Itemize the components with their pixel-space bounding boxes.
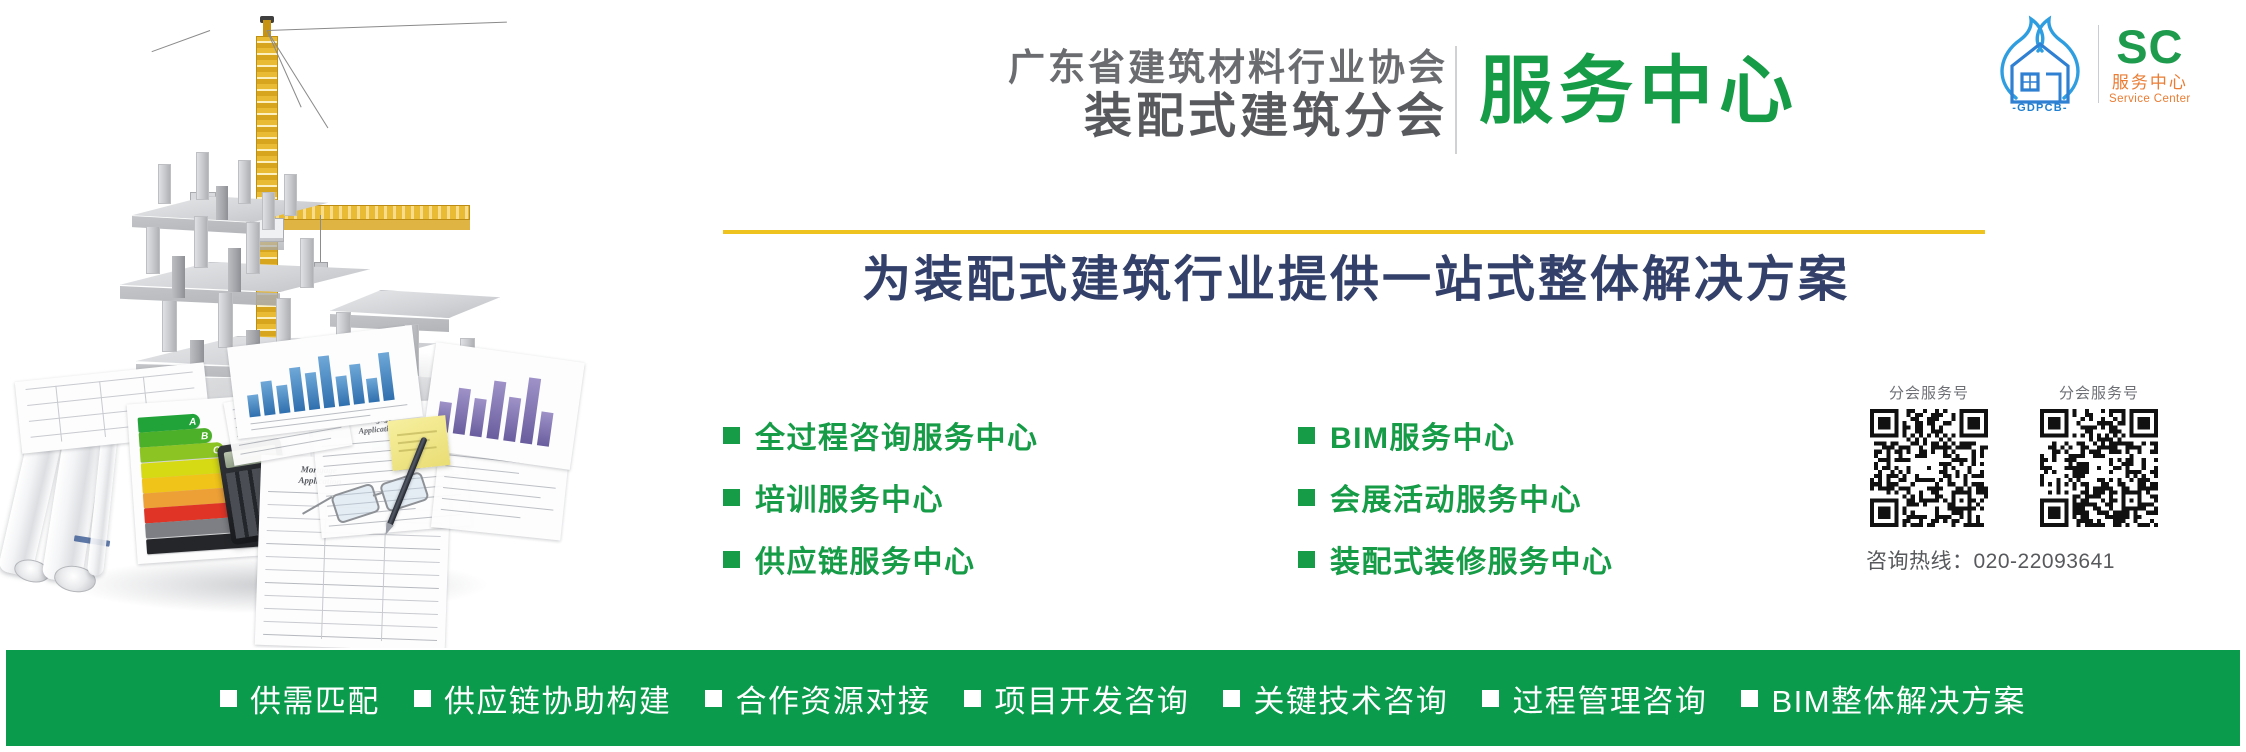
qr-code-caption: 分会服务号 (2030, 382, 2168, 403)
list-item-label: 供应链协助构建 (444, 676, 672, 721)
list-item-label: 会展活动服务中心 (1330, 475, 1582, 519)
list-item-label: BIM服务中心 (1330, 413, 1516, 457)
logo-divider (2098, 25, 2099, 103)
yellow-divider-rule (723, 230, 1985, 234)
square-bullet-icon (1741, 690, 1758, 707)
construction-illustration: ABCDEFGHI Mortgage Application (0, 0, 700, 648)
list-item[interactable]: 过程管理咨询 (1482, 676, 1707, 721)
qr-code-block: 分会服务号 分会服务号 咨询热线：020-22093641 (1860, 382, 2230, 575)
list-item-label: 全过程咨询服务中心 (755, 413, 1039, 457)
qr-code-cell: 分会服务号 (1860, 382, 1998, 527)
qr-code-icon[interactable] (2040, 409, 2158, 527)
list-item[interactable]: 供需匹配 (220, 676, 380, 721)
square-bullet-icon (1482, 690, 1499, 707)
list-item[interactable]: BIM服务中心 (1298, 404, 1614, 466)
header-vertical-divider (1455, 46, 1457, 154)
list-item[interactable]: 合作资源对接 (705, 676, 930, 721)
square-bullet-icon (1298, 427, 1315, 444)
square-bullet-icon (723, 551, 740, 568)
service-center-title: 服务中心 (1479, 54, 1799, 128)
list-item-label: 合作资源对接 (735, 676, 930, 721)
association-name: 广东省建筑材料行业协会 装配式建筑分会 (838, 46, 1448, 144)
logo-sc-english: Service Center (2109, 94, 2191, 106)
list-item[interactable]: 供应链协助构建 (414, 676, 672, 721)
list-item[interactable]: 培训服务中心 (723, 466, 1039, 528)
square-bullet-icon (414, 690, 431, 707)
logo-wordmark: SC 服务中心 Service Center (2109, 23, 2191, 106)
hotline-text: 咨询热线：020-22093641 (1860, 545, 2230, 575)
list-item[interactable]: 供应链服务中心 (723, 528, 1039, 590)
square-bullet-icon (964, 690, 981, 707)
list-item-label: 项目开发咨询 (994, 676, 1189, 721)
service-list-left-column: 全过程咨询服务中心 培训服务中心 供应链服务中心 (723, 404, 1039, 590)
association-name-line2: 装配式建筑分会 (838, 90, 1448, 145)
list-item[interactable]: BIM整体解决方案 (1741, 676, 2026, 721)
list-item-label: 培训服务中心 (755, 475, 944, 519)
list-item[interactable]: 项目开发咨询 (964, 676, 1189, 721)
service-list-right-column: BIM服务中心 会展活动服务中心 装配式装修服务中心 (1298, 404, 1614, 590)
square-bullet-icon (723, 489, 740, 506)
logo-sc-abbrev: SC (2116, 23, 2183, 70)
energy-rating-label: B (201, 431, 209, 442)
bottom-green-bar: 供需匹配 供应链协助构建 合作资源对接 项目开发咨询 关键技术咨询 过程管理咨询 (6, 650, 2240, 746)
page-title: 为装配式建筑行业提供一站式整体解决方案 (723, 254, 1989, 308)
logo-sc-chinese: 服务中心 (2112, 74, 2188, 91)
qr-code-icon[interactable] (1870, 409, 1988, 527)
association-name-line1: 广东省建筑材料行业协会 (838, 46, 1448, 90)
list-item[interactable]: 会展活动服务中心 (1298, 466, 1614, 528)
square-bullet-icon (705, 690, 722, 707)
logo: -GDPCB- SC 服务中心 Service Center (1986, 12, 2238, 116)
list-item-label: 供需匹配 (250, 676, 380, 721)
square-bullet-icon (220, 690, 237, 707)
square-bullet-icon (723, 427, 740, 444)
energy-rating-label: A (189, 417, 197, 428)
logo-mark-text: -GDPCB- (1986, 102, 2094, 114)
list-item-label: 关键技术咨询 (1253, 676, 1448, 721)
banner-root: ABCDEFGHI Mortgage Application (0, 0, 2246, 752)
list-item-label: 供应链服务中心 (755, 537, 976, 581)
list-item[interactable]: 关键技术咨询 (1223, 676, 1448, 721)
list-item-label: BIM整体解决方案 (1771, 676, 2026, 721)
bottom-bar-items: 供需匹配 供应链协助构建 合作资源对接 项目开发咨询 关键技术咨询 过程管理咨询 (220, 676, 2026, 721)
house-flame-icon: -GDPCB- (1986, 14, 2094, 114)
list-item[interactable]: 全过程咨询服务中心 (723, 404, 1039, 466)
list-item-label: 过程管理咨询 (1512, 676, 1707, 721)
square-bullet-icon (1298, 489, 1315, 506)
qr-code-caption: 分会服务号 (1860, 382, 1998, 403)
qr-code-cell: 分会服务号 (2030, 382, 2168, 527)
list-item-label: 装配式装修服务中心 (1330, 537, 1614, 581)
square-bullet-icon (1223, 690, 1240, 707)
list-item[interactable]: 装配式装修服务中心 (1298, 528, 1614, 590)
square-bullet-icon (1298, 551, 1315, 568)
